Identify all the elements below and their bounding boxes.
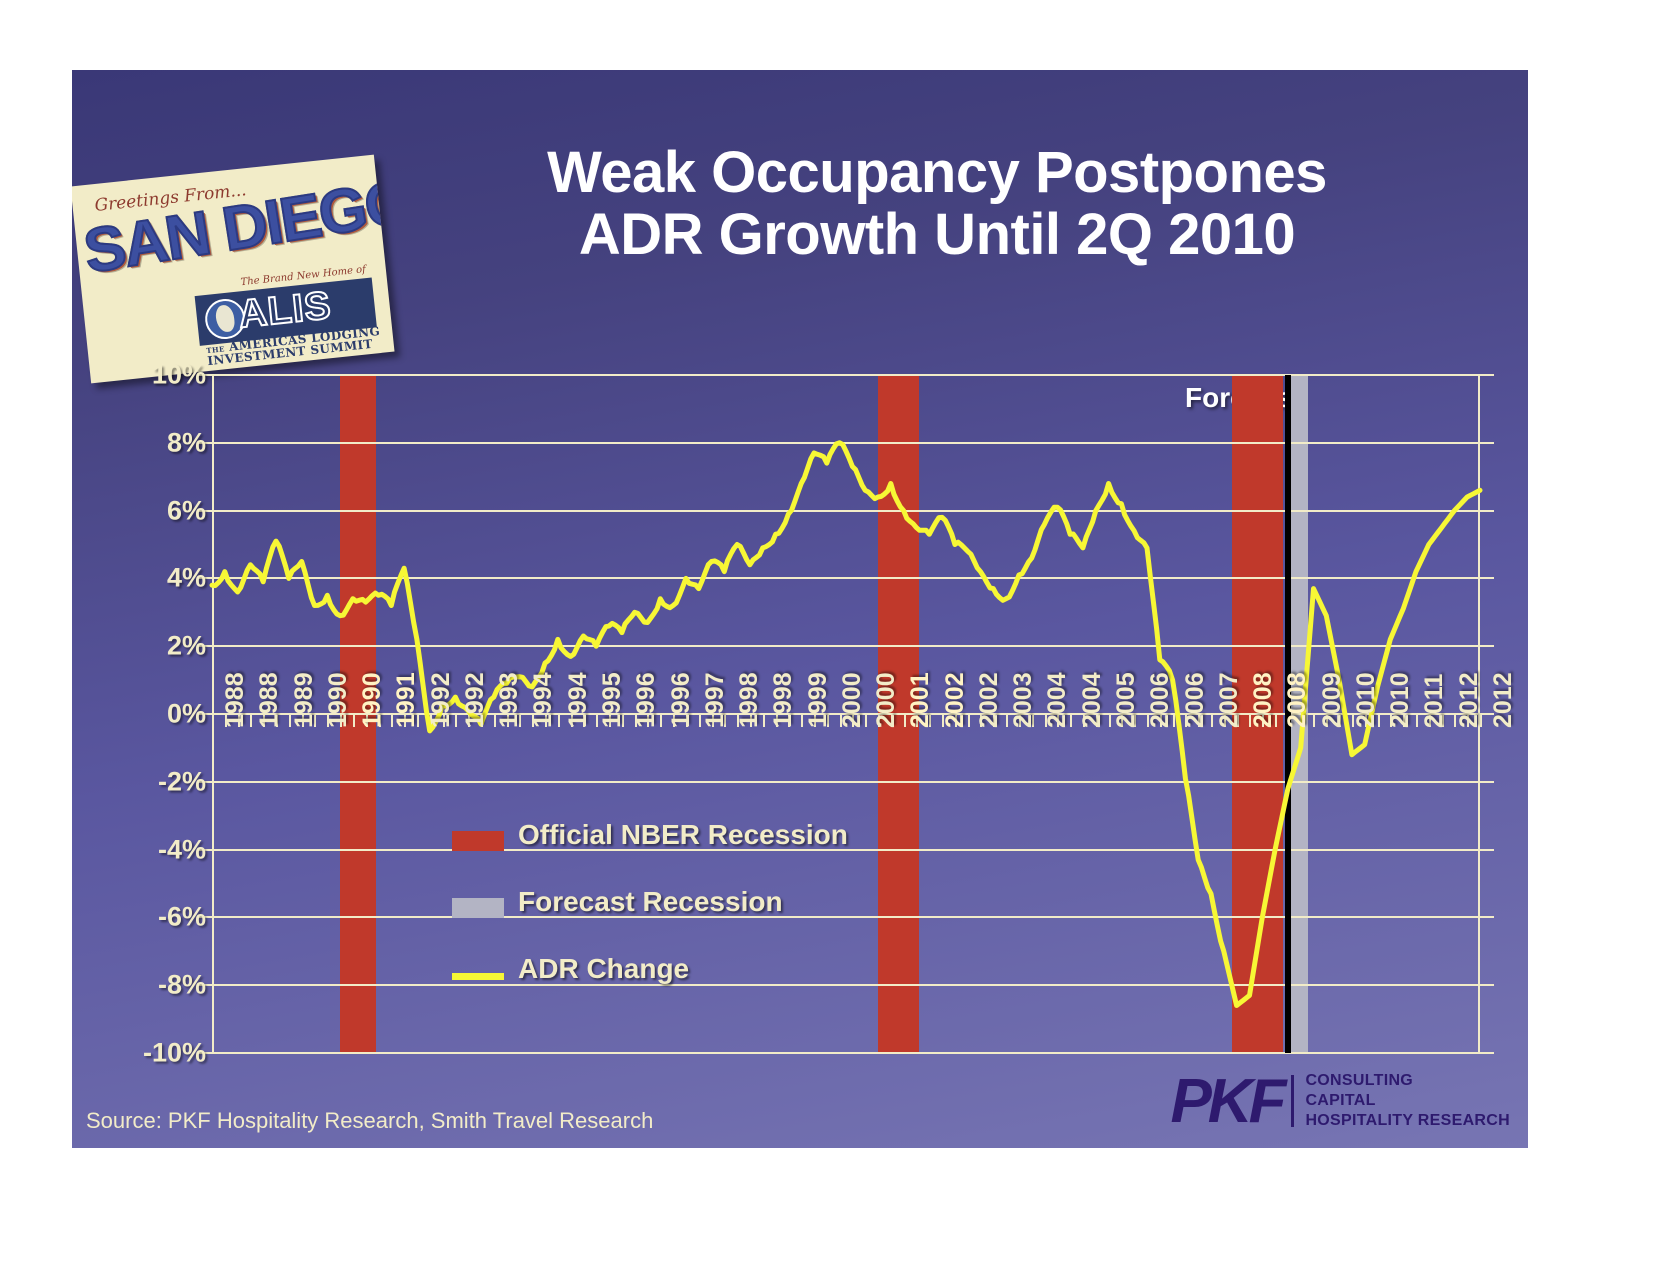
x-axis-label: 1989 [290, 672, 319, 728]
x-axis-label: 2010 [1352, 672, 1381, 728]
x-axis-label: 2002 [941, 672, 970, 728]
y-axis-tick-right [1480, 510, 1494, 512]
adr-change-chart: 10%8%6%4%2%0%-2%-4%-6%-8%-10%19881988198… [212, 375, 1480, 1053]
pkf-word-hospitality-research: HOSPITALITY RESEARCH [1305, 1111, 1510, 1131]
x-axis-label: 2007 [1215, 672, 1244, 728]
slide-canvas: Weak Occupancy Postpones ADR Growth Unti… [72, 70, 1528, 1148]
title-line-2: ADR Growth Until 2Q 2010 [372, 204, 1502, 266]
x-axis-label: 2009 [1318, 672, 1347, 728]
y-axis-label: 0% [72, 699, 206, 730]
x-axis-label: 1988 [255, 672, 284, 728]
y-axis-label: 10% [72, 360, 206, 391]
legend-label: ADR Change [518, 953, 689, 985]
y-axis-label: 6% [72, 495, 206, 526]
san-diego-postcard-image: Greetings From... SAN DIEGO The Brand Ne… [72, 155, 395, 384]
plot-area: 10%8%6%4%2%0%-2%-4%-6%-8%-10%19881988198… [212, 375, 1480, 1053]
y-axis-tick-right [1480, 374, 1494, 376]
x-axis-label: 1994 [529, 672, 558, 728]
x-axis-label: 1992 [427, 672, 456, 728]
x-axis-label: 1992 [461, 672, 490, 728]
pkf-word-capital: CAPITAL [1305, 1091, 1510, 1111]
y-axis-label: -2% [72, 766, 206, 797]
x-axis-label: 1988 [221, 672, 250, 728]
y-axis-label: -10% [72, 1038, 206, 1069]
pkf-word-consulting: CONSULTING [1305, 1071, 1510, 1091]
x-axis-label: 2004 [1043, 672, 1072, 728]
y-axis-tick-right [1480, 1052, 1494, 1054]
x-axis-label: 2003 [1009, 672, 1038, 728]
x-axis-label: 2008 [1283, 672, 1312, 728]
title-line-1: Weak Occupancy Postpones [547, 140, 1327, 205]
x-axis-label: 2011 [1420, 674, 1449, 728]
x-axis-label: 2012 [1489, 672, 1518, 728]
x-axis-label: 1994 [564, 672, 593, 728]
y-axis-tick-right [1480, 781, 1494, 783]
pkf-logo-words: CONSULTING CAPITAL HOSPITALITY RESEARCH [1305, 1071, 1510, 1131]
x-axis-label: 1996 [632, 672, 661, 728]
legend-color-swatch [452, 831, 504, 851]
y-axis-label: 8% [72, 427, 206, 458]
y-axis-label: 4% [72, 563, 206, 594]
x-axis-label: 2006 [1146, 672, 1175, 728]
x-axis-label: 2004 [1078, 672, 1107, 728]
x-axis-label: 2012 [1455, 672, 1484, 728]
x-axis-label: 1996 [667, 672, 696, 728]
x-axis-label: 2010 [1386, 672, 1415, 728]
x-axis-label: 1990 [324, 672, 353, 728]
y-axis-tick-right [1480, 442, 1494, 444]
x-axis-label: 1993 [495, 672, 524, 728]
y-axis-tick-right [1480, 577, 1494, 579]
x-axis-label: 2006 [1181, 672, 1210, 728]
legend-color-swatch [452, 898, 504, 918]
x-axis-label: 2001 [906, 672, 935, 728]
x-axis-label: 1997 [701, 672, 730, 728]
y-axis-tick-right [1480, 916, 1494, 918]
x-axis-label: 1998 [735, 672, 764, 728]
y-axis-label: -6% [72, 902, 206, 933]
legend-label: Official NBER Recession [518, 819, 848, 851]
x-axis-label: 2000 [872, 672, 901, 728]
x-axis-label: 1998 [769, 672, 798, 728]
y-axis-tick-right [1480, 984, 1494, 986]
legend-line-swatch [452, 973, 504, 980]
pkf-logo-divider [1291, 1075, 1294, 1127]
source-note: Source: PKF Hospitality Research, Smith … [86, 1108, 653, 1134]
x-axis-label: 2000 [838, 672, 867, 728]
y-axis-tick-right [1480, 645, 1494, 647]
legend-label: Forecast Recession [518, 886, 783, 918]
x-axis-label: 1990 [358, 672, 387, 728]
pkf-logo-mark: PKF [1170, 1066, 1282, 1137]
page-title: Weak Occupancy Postpones ADR Growth Unti… [372, 142, 1502, 266]
y-axis-label: -4% [72, 834, 206, 865]
x-axis-label: 2008 [1249, 672, 1278, 728]
x-axis-label: 1995 [598, 672, 627, 728]
y-axis-label: -8% [72, 970, 206, 1001]
y-axis-label: 2% [72, 631, 206, 662]
x-axis-label: 2002 [975, 672, 1004, 728]
y-axis-tick-right [1480, 849, 1494, 851]
x-axis-label: 1991 [392, 672, 421, 728]
x-axis-label: 1999 [804, 672, 833, 728]
x-axis-label: 2005 [1112, 672, 1141, 728]
pkf-logo: PKF CONSULTING CAPITAL HOSPITALITY RESEA… [1170, 1062, 1510, 1140]
